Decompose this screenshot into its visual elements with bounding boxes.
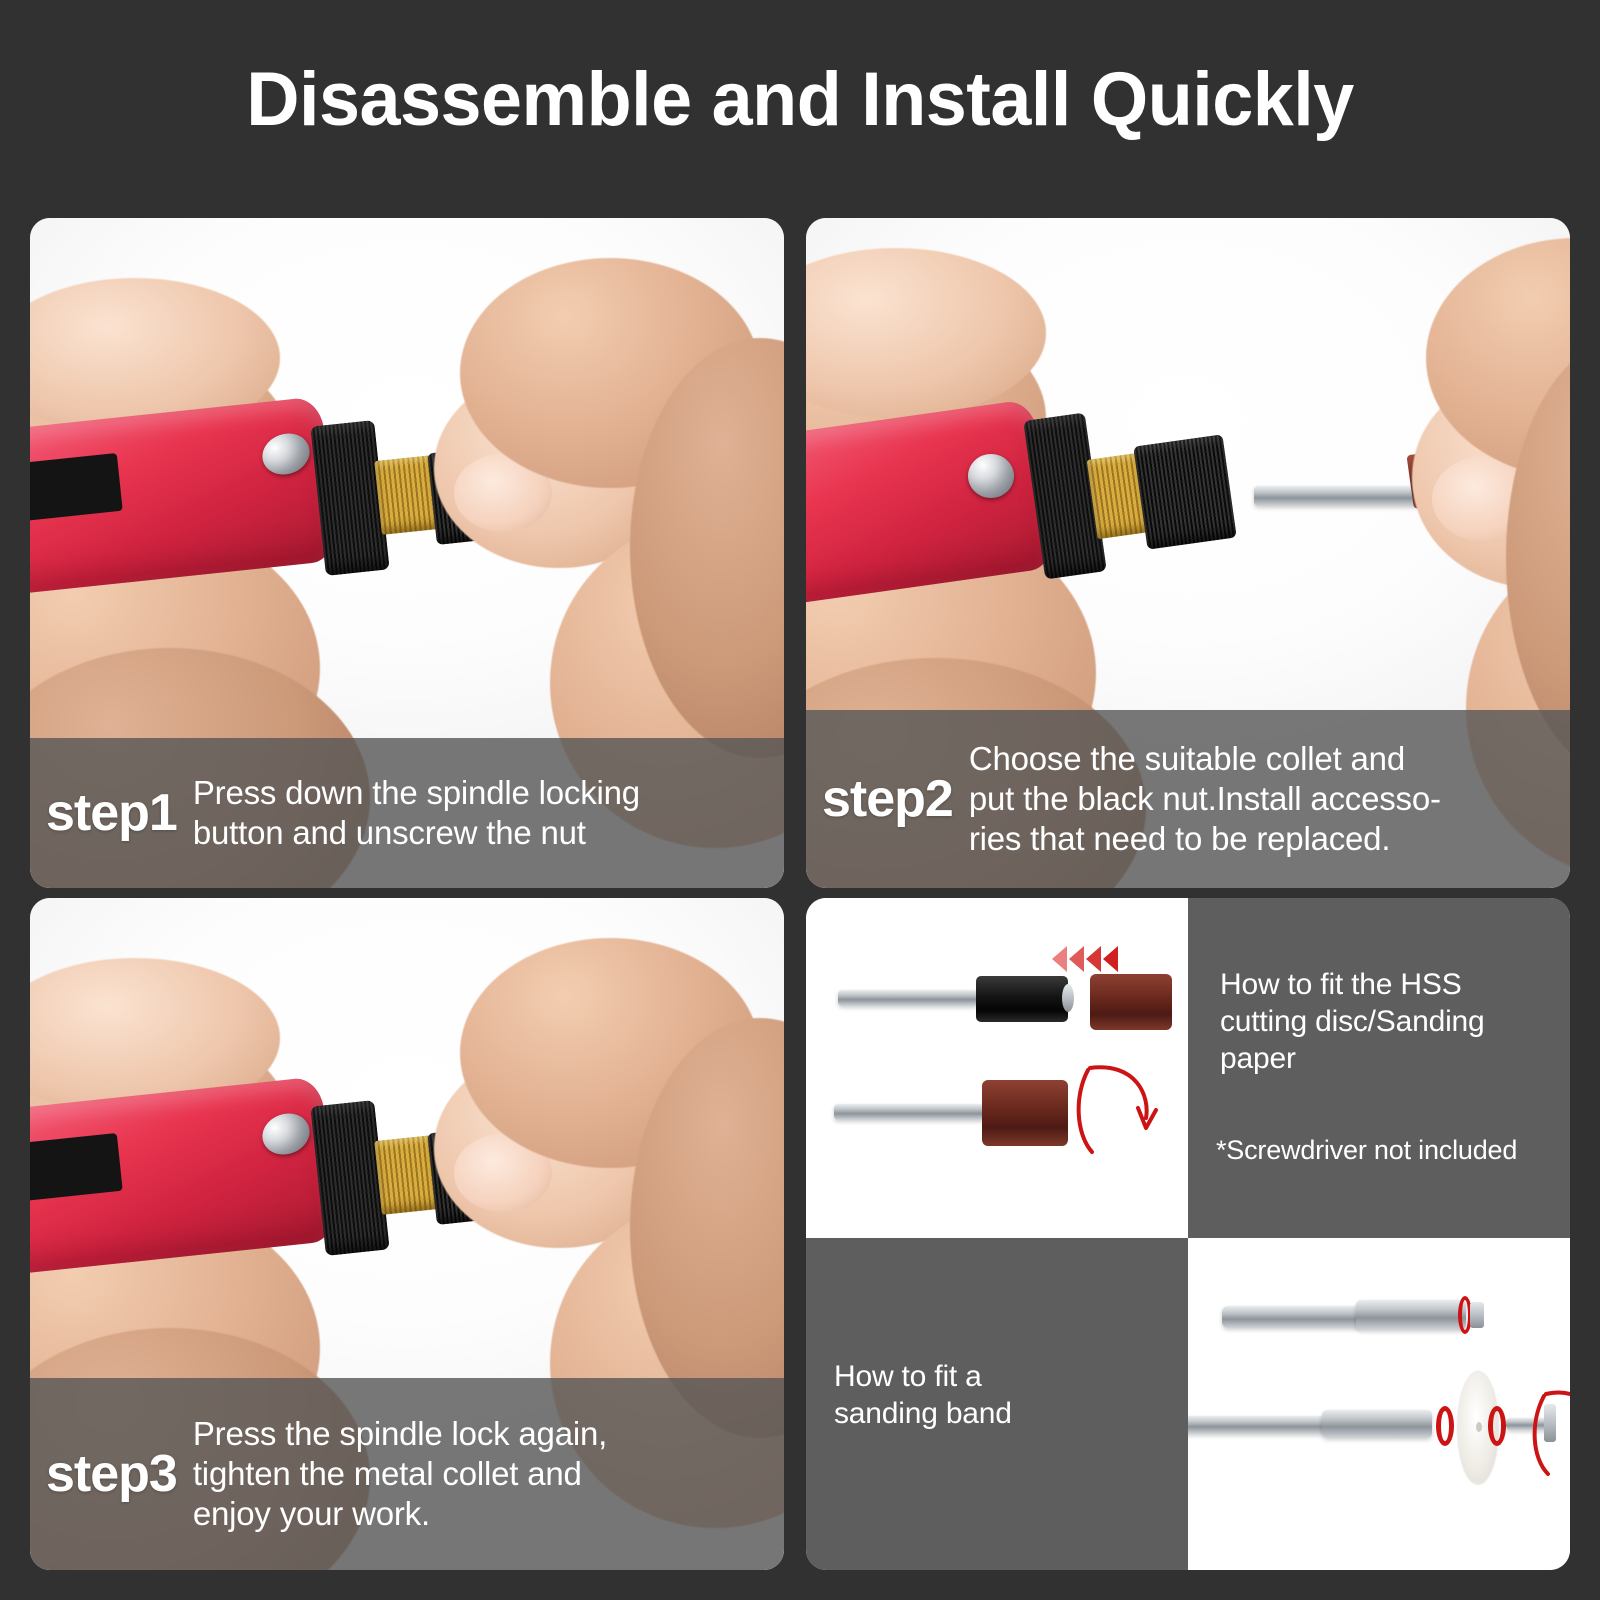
hss-heading: How to fit the HSS cutting disc/Sanding … — [1220, 966, 1485, 1078]
black-nut — [1133, 434, 1237, 550]
screwdriver-note: *Screwdriver not included — [1216, 1134, 1517, 1167]
band-line-1: How to fit a — [834, 1358, 1012, 1395]
step1-line-1: Press down the spindle locking — [193, 773, 770, 813]
hss-line-3: paper — [1220, 1040, 1485, 1077]
step3-line-2: tighten the metal collet and — [193, 1454, 770, 1494]
step2-line-1: Choose the suitable collet and — [969, 739, 1556, 779]
hss-line-2: cutting disc/Sanding — [1220, 1003, 1485, 1040]
step2-text: Choose the suitable collet and put the b… — [969, 739, 1556, 860]
step2-caption: step2 Choose the suitable collet and put… — [806, 710, 1570, 888]
step3-text: Press the spindle lock again, tighten th… — [193, 1414, 770, 1535]
step3-caption: step3 Press the spindle lock again, tigh… — [30, 1378, 784, 1570]
page-title: Disassemble and Install Quickly — [24, 62, 1576, 138]
infographic-page: Disassemble and Install Quickly step1 — [0, 0, 1600, 1600]
step2-number: step2 — [822, 769, 953, 829]
hss-line-1: How to fit the HSS — [1220, 966, 1485, 1003]
curved-rotation-arrow-icon — [1070, 1056, 1180, 1166]
accessory-shank — [1254, 486, 1418, 506]
spindle-lock-button — [968, 454, 1014, 498]
red-washer-left — [1436, 1406, 1454, 1446]
band-heading: How to fit a sanding band — [834, 1358, 1012, 1432]
cutting-disc-photo — [1188, 1238, 1570, 1570]
step2-line-2: put the black nut.Install accesso- — [969, 779, 1556, 819]
step-panel-2: step2 Choose the suitable collet and put… — [806, 218, 1570, 888]
step1-number: step1 — [46, 783, 177, 843]
step-panel-1: step1 Press down the spindle locking but… — [30, 218, 784, 888]
curved-rotation-arrow-icon — [1528, 1378, 1570, 1488]
accessory-fitting-panel: How to fit the HSS cutting disc/Sanding … — [806, 898, 1570, 1570]
step1-line-2: button and unscrew the nut — [193, 813, 770, 853]
step1-text: Press down the spindle locking button an… — [193, 773, 770, 854]
step3-line-1: Press the spindle lock again, — [193, 1414, 770, 1454]
sanding-band-instructions: How to fit a sanding band — [806, 1238, 1188, 1570]
hss-instructions: How to fit the HSS cutting disc/Sanding … — [1188, 898, 1570, 1238]
step-panel-3: step3 Press the spindle lock again, tigh… — [30, 898, 784, 1570]
sanding-band-photo — [806, 898, 1188, 1238]
step1-caption: step1 Press down the spindle locking but… — [30, 738, 784, 888]
red-washer-right — [1488, 1406, 1506, 1446]
step3-number: step3 — [46, 1444, 177, 1504]
step3-line-3: enjoy your work. — [193, 1494, 770, 1534]
step2-line-3: ries that need to be replaced. — [969, 819, 1556, 859]
band-line-2: sanding band — [834, 1395, 1012, 1432]
chevrons-left-icon — [1052, 946, 1118, 972]
